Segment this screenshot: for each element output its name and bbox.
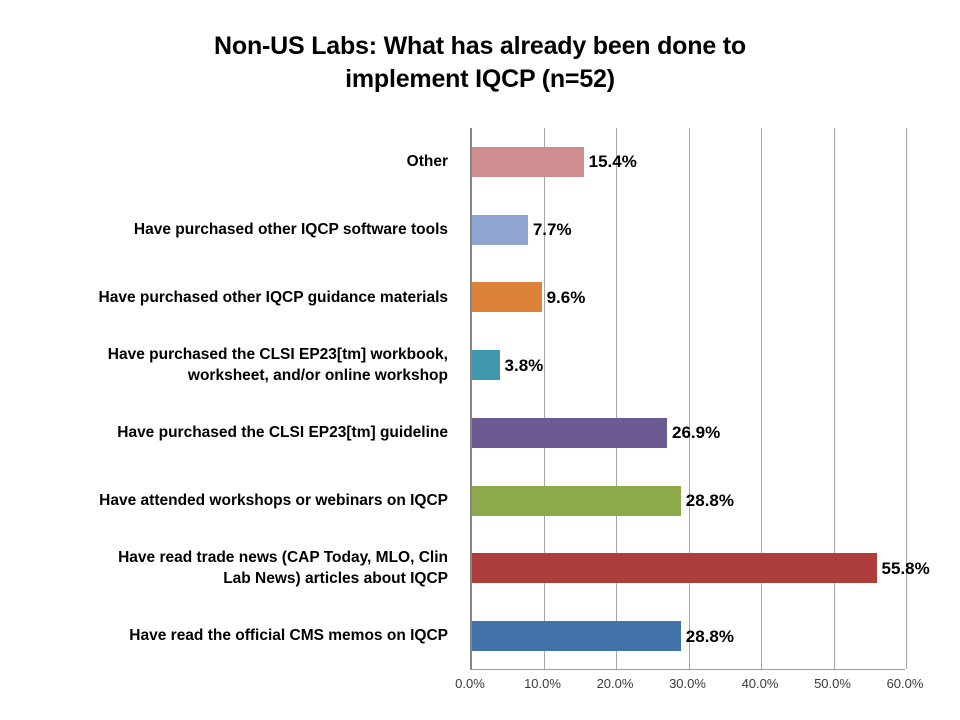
bar-chart: Non-US Labs: What has already been done …: [0, 0, 960, 720]
bar[interactable]: [472, 486, 681, 516]
category-label: Have purchased the CLSI EP23[tm] guideli…: [117, 422, 460, 443]
bar-value-label: 55.8%: [882, 560, 930, 577]
category-label-line: Have purchased the CLSI EP23[tm] guideli…: [117, 422, 448, 443]
category-label: Have read the official CMS memos on IQCP: [129, 625, 460, 646]
bar[interactable]: [472, 350, 500, 380]
bar[interactable]: [472, 215, 528, 245]
gridline-20-0%: [616, 128, 617, 669]
gridline-30-0%: [689, 128, 690, 669]
bar-row: 55.8%: [472, 553, 930, 583]
bar-value-label: 15.4%: [589, 153, 637, 170]
category-label-line: Have attended workshops or webinars on I…: [99, 490, 448, 511]
category-label: Have purchased the CLSI EP23[tm] workboo…: [108, 344, 460, 387]
bar[interactable]: [472, 553, 877, 583]
category-label-line: Have purchased the CLSI EP23[tm] workboo…: [108, 344, 448, 365]
bar-row: 9.6%: [472, 282, 585, 312]
bar-row: 28.8%: [472, 486, 734, 516]
bar[interactable]: [472, 147, 584, 177]
bar-row: 15.4%: [472, 147, 637, 177]
chart-title-line-1: Non-US Labs: What has already been done …: [130, 30, 830, 63]
category-label-line: Have read trade news (CAP Today, MLO, Cl…: [118, 547, 448, 568]
x-tick-label: 60.0%: [860, 676, 950, 691]
bar-row: 26.9%: [472, 418, 720, 448]
category-label-row: Have purchased the CLSI EP23[tm] guideli…: [10, 399, 460, 467]
category-label-line: Have read the official CMS memos on IQCP: [129, 625, 448, 646]
bar-row: 3.8%: [472, 350, 543, 380]
bar-value-label: 26.9%: [672, 424, 720, 441]
bar-value-label: 7.7%: [533, 221, 572, 238]
category-label-line: Have purchased other IQCP software tools: [134, 219, 448, 240]
category-label-row: Have purchased the CLSI EP23[tm] workboo…: [10, 331, 460, 399]
category-label-row: Have attended workshops or webinars on I…: [10, 467, 460, 535]
gridline-50-0%: [834, 128, 835, 669]
bar-row: 28.8%: [472, 621, 734, 651]
category-label-row: Have purchased other IQCP software tools: [10, 196, 460, 264]
category-label: Have purchased other IQCP guidance mater…: [99, 287, 460, 308]
gridline-60-0%: [906, 128, 907, 669]
category-label-row: Have read trade news (CAP Today, MLO, Cl…: [10, 535, 460, 603]
bar-value-label: 28.8%: [686, 628, 734, 645]
category-label-row: Other: [10, 128, 460, 196]
category-label-line: worksheet, and/or online workshop: [108, 365, 448, 386]
chart-title-line-2: implement IQCP (n=52): [130, 63, 830, 96]
category-label-row: Have read the official CMS memos on IQCP: [10, 602, 460, 670]
category-label-line: Lab News) articles about IQCP: [118, 568, 448, 589]
x-axis-tick-labels: 0.0%10.0%20.0%30.0%40.0%50.0%60.0%: [0, 676, 960, 700]
category-label-row: Have purchased other IQCP guidance mater…: [10, 264, 460, 332]
gridline-40-0%: [761, 128, 762, 669]
bar[interactable]: [472, 621, 681, 651]
bar[interactable]: [472, 418, 667, 448]
category-label: Have read trade news (CAP Today, MLO, Cl…: [118, 547, 460, 590]
plot-area: 15.4%7.7%9.6%3.8%26.9%28.8%55.8%28.8%: [470, 128, 905, 670]
bar-row: 7.7%: [472, 215, 572, 245]
category-label: Have purchased other IQCP software tools: [134, 219, 460, 240]
bar-value-label: 9.6%: [547, 289, 586, 306]
category-label-line: Have purchased other IQCP guidance mater…: [99, 287, 448, 308]
category-label-line: Other: [407, 151, 448, 172]
bar-value-label: 28.8%: [686, 492, 734, 509]
bar[interactable]: [472, 282, 542, 312]
chart-title: Non-US Labs: What has already been done …: [130, 30, 830, 96]
y-axis-category-labels: OtherHave purchased other IQCP software …: [10, 128, 460, 670]
category-label: Other: [407, 151, 460, 172]
gridline-10-0%: [544, 128, 545, 669]
bar-value-label: 3.8%: [505, 357, 544, 374]
category-label: Have attended workshops or webinars on I…: [99, 490, 460, 511]
